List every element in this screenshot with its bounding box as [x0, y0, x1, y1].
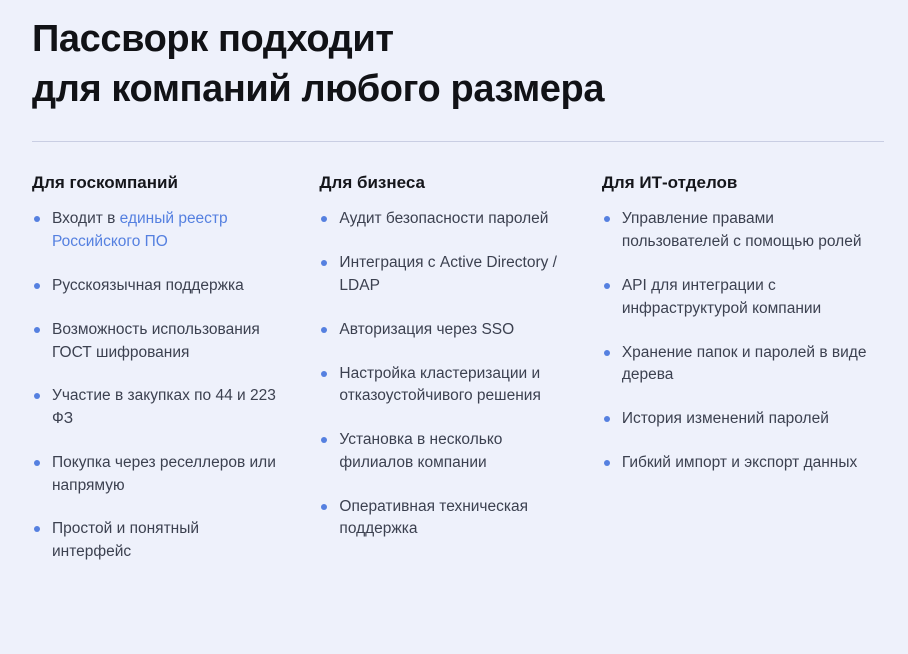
list-item: Оперативная техническая поддержка — [319, 496, 571, 542]
bullet-dot-icon — [34, 327, 40, 333]
bullet-dot-icon — [34, 216, 40, 222]
list-item-text: Русскоязычная поддержка — [52, 277, 244, 294]
list-item: Гибкий импорт и экспорт данных — [602, 452, 876, 475]
list-item: Интеграция с Active Directory / LDAP — [319, 252, 571, 298]
bullet-dot-icon — [321, 504, 327, 510]
list-item-text: Интеграция с Active Directory / LDAP — [339, 254, 557, 294]
bullet-dot-icon — [604, 416, 610, 422]
list-item-text: Хранение папок и паролей в виде дерева — [622, 344, 867, 384]
bullet-dot-icon — [321, 216, 327, 222]
marketing-section: Пассворк подходит для компаний любого ра… — [0, 0, 908, 654]
list-item-text: Возможность использования ГОСТ шифровани… — [52, 321, 260, 361]
list-item: Управление правами пользователей с помощ… — [602, 208, 876, 254]
list-item-text-prefix: Входит в — [52, 210, 120, 227]
column-title-business: Для бизнеса — [319, 172, 571, 194]
list-item: Русскоязычная поддержка — [32, 275, 281, 298]
list-item: Установка в несколько филиалов компании — [319, 429, 571, 475]
bullet-dot-icon — [321, 327, 327, 333]
list-item-text: История изменений паролей — [622, 410, 829, 427]
bullet-dot-icon — [604, 216, 610, 222]
bullet-dot-icon — [321, 437, 327, 443]
list-item: Входит в единый реестр Российского ПО — [32, 208, 281, 254]
list-item-text: API для интеграции с инфраструктурой ком… — [622, 277, 821, 317]
list-item: История изменений паролей — [602, 408, 876, 431]
list-item-text: Управление правами пользователей с помощ… — [622, 210, 862, 250]
column-title-it-departments: Для ИТ-отделов — [602, 172, 876, 194]
list-item-text: Участие в закупках по 44 и 223 ФЗ — [52, 387, 276, 427]
bullet-dot-icon — [321, 371, 327, 377]
bullet-dot-icon — [34, 393, 40, 399]
page-title-line-2: для компаний любого размера — [32, 64, 732, 114]
list-item: Аудит безопасности паролей — [319, 208, 571, 231]
list-item-text: Гибкий импорт и экспорт данных — [622, 454, 857, 471]
column-it-departments: Для ИТ-отделов Управление правами пользо… — [602, 172, 876, 564]
list-item-text: Оперативная техническая поддержка — [339, 498, 528, 538]
column-gov-companies: Для госкомпаний Входит в единый реестр Р… — [32, 172, 319, 564]
list-item-text: Настройка кластеризации и отказоустойчив… — [339, 365, 540, 405]
list-item: Хранение папок и паролей в виде дерева — [602, 342, 876, 388]
list-item-text: Авторизация через SSO — [339, 321, 514, 338]
horizontal-divider — [32, 141, 884, 142]
list-item: Авторизация через SSO — [319, 319, 571, 342]
list-item: Возможность использования ГОСТ шифровани… — [32, 319, 281, 365]
column-title-gov-companies: Для госкомпаний — [32, 172, 281, 194]
bullet-dot-icon — [604, 283, 610, 289]
list-item: Покупка через реселлеров или напрямую — [32, 452, 281, 498]
bullet-dot-icon — [604, 350, 610, 356]
audience-columns: Для госкомпаний Входит в единый реестр Р… — [32, 172, 876, 564]
feature-list-gov-companies: Входит в единый реестр Российского ПО Ру… — [32, 208, 281, 564]
bullet-dot-icon — [34, 460, 40, 466]
feature-list-business: Аудит безопасности паролей Интеграция с … — [319, 208, 571, 541]
list-item: Простой и понятный интерфейс — [32, 518, 281, 564]
column-business: Для бизнеса Аудит безопасности паролей И… — [319, 172, 601, 564]
page-title: Пассворк подходит для компаний любого ра… — [32, 0, 732, 114]
bullet-dot-icon — [34, 526, 40, 532]
list-item-text: Покупка через реселлеров или напрямую — [52, 454, 276, 494]
list-item-text: Простой и понятный интерфейс — [52, 520, 199, 560]
feature-list-it-departments: Управление правами пользователей с помощ… — [602, 208, 876, 474]
list-item: API для интеграции с инфраструктурой ком… — [602, 275, 876, 321]
bullet-dot-icon — [34, 283, 40, 289]
bullet-dot-icon — [321, 260, 327, 266]
list-item-text: Аудит безопасности паролей — [339, 210, 548, 227]
list-item: Настройка кластеризации и отказоустойчив… — [319, 363, 571, 409]
page-title-line-1: Пассворк подходит — [32, 14, 732, 64]
bullet-dot-icon — [604, 460, 610, 466]
list-item: Участие в закупках по 44 и 223 ФЗ — [32, 385, 281, 431]
list-item-text: Установка в несколько филиалов компании — [339, 431, 502, 471]
